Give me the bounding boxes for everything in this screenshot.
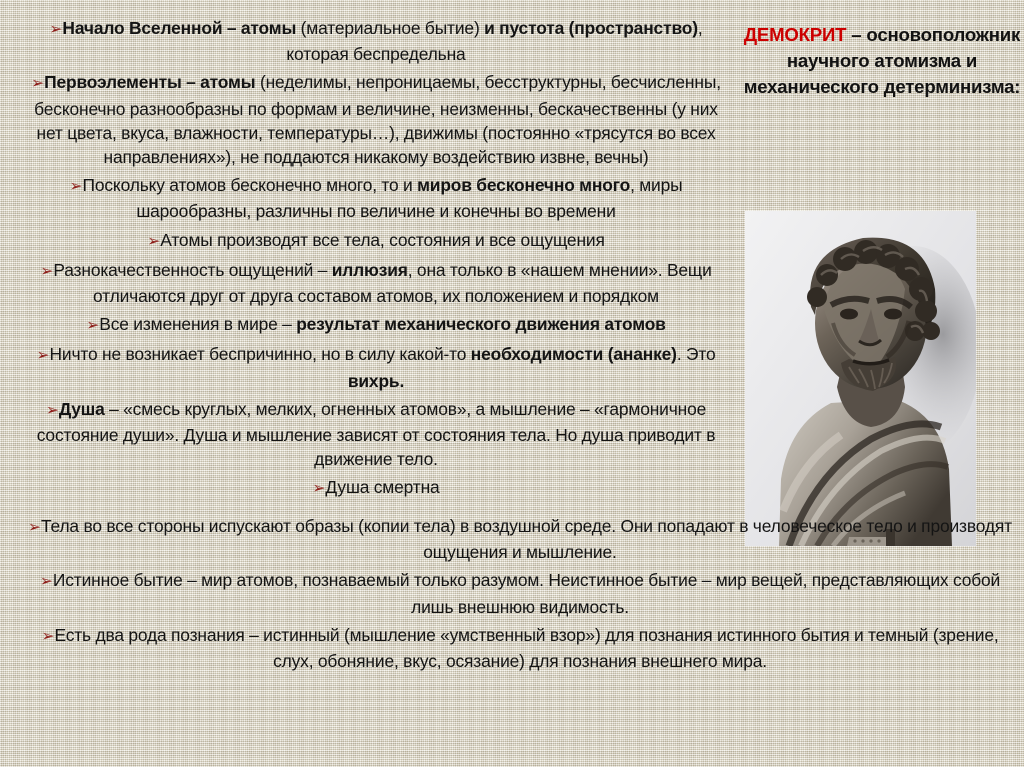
bullet-arrow-icon: ➢ bbox=[40, 263, 53, 280]
bullet-p1-run-2: и пустота (пространство) bbox=[484, 18, 698, 38]
bullet-arrow-icon: ➢ bbox=[41, 628, 54, 645]
bullet-arrow-icon: ➢ bbox=[40, 573, 53, 590]
side-title: ДЕМОКРИТ – основоположник научного атоми… bbox=[742, 22, 1022, 100]
narrow-bullet-column: ➢Начало Вселенной – атомы (материальное … bbox=[26, 16, 726, 506]
bullet-p4: ➢Атомы производят все тела, состояния и … bbox=[26, 228, 726, 254]
slide-canvas: ДЕМОКРИТ – основоположник научного атоми… bbox=[0, 0, 1024, 767]
bullet-arrow-icon: ➢ bbox=[86, 317, 99, 334]
bullet-arrow-icon: ➢ bbox=[147, 233, 160, 250]
wide-bullet-w2: ➢Истинное бытие – мир атомов, познаваемы… bbox=[26, 568, 1014, 618]
bullet-p3-run-0: Поскольку атомов бесконечно много, то и bbox=[83, 175, 418, 195]
bullet-p8: ➢Душа – «смесь круглых, мелких, огненных… bbox=[26, 397, 726, 472]
bullet-arrow-icon: ➢ bbox=[49, 21, 62, 38]
bullet-p5-run-1: иллюзия bbox=[332, 260, 408, 280]
bullet-p6-run-1: результат механического движения атомов bbox=[296, 314, 666, 334]
bullet-p1-run-0: Начало Вселенной – атомы bbox=[62, 18, 300, 38]
bullet-p7-run-1: необходимости (ананке) bbox=[471, 344, 677, 364]
bullet-p7-run-0: Ничто не возникает беспричинно, но в сил… bbox=[50, 344, 471, 364]
bullet-p7-run-3: вихрь. bbox=[348, 371, 404, 391]
bullet-arrow-icon: ➢ bbox=[46, 402, 59, 419]
bullet-p2: ➢Первоэлементы – атомы (неделимы, непрон… bbox=[26, 70, 726, 169]
bullet-p7: ➢Ничто не возникает беспричинно, но в си… bbox=[26, 342, 726, 392]
bullet-p5-run-0: Разнокачественность ощущений – bbox=[53, 260, 331, 280]
bullet-arrow-icon: ➢ bbox=[37, 347, 50, 364]
bullet-p7-run-2: . Это bbox=[677, 344, 716, 364]
bullet-p2-run-0: Первоэлементы – атомы bbox=[44, 72, 260, 92]
bullet-p4-run-0: Атомы производят все тела, состояния и в… bbox=[160, 230, 605, 250]
wide-bullet-w1: ➢Тела во все стороны испускают образы (к… bbox=[26, 514, 1014, 564]
wide-bullet-w3-run-0: Есть два рода познания – истинный (мышле… bbox=[54, 625, 998, 671]
bullet-arrow-icon: ➢ bbox=[70, 178, 83, 195]
wide-bullet-column: ➢Тела во все стороны испускают образы (к… bbox=[26, 514, 1014, 677]
bullet-p9-run-0: Душа смертна bbox=[325, 477, 439, 497]
bullet-p9: ➢Душа смертна bbox=[26, 475, 726, 501]
wide-bullet-w2-run-0: Истинное бытие – мир атомов, познаваемый… bbox=[53, 570, 1000, 616]
bullet-p6-run-0: Все изменения в мире – bbox=[99, 314, 296, 334]
bullet-p5: ➢Разнокачественность ощущений – иллюзия,… bbox=[26, 258, 726, 308]
bullet-arrow-icon: ➢ bbox=[28, 519, 41, 536]
wide-bullet-w1-run-0: Тела во все стороны испускают образы (ко… bbox=[41, 516, 1012, 562]
side-title-dash: – bbox=[846, 24, 866, 45]
bullet-p8-run-1: – «смесь круглых, мелких, огненных атомо… bbox=[37, 399, 716, 469]
bust-of-democritus-photo bbox=[745, 211, 976, 546]
bullet-arrow-icon: ➢ bbox=[31, 75, 44, 92]
bullet-arrow-icon: ➢ bbox=[312, 480, 325, 497]
bullet-p3: ➢Поскольку атомов бесконечно много, то и… bbox=[26, 173, 726, 223]
bullet-p8-run-0: Душа bbox=[59, 399, 105, 419]
wide-bullet-w3: ➢Есть два рода познания – истинный (мышл… bbox=[26, 623, 1014, 673]
bullet-p3-run-1: миров бесконечно много bbox=[417, 175, 630, 195]
bullet-p1-run-1: (материальное бытие) bbox=[301, 18, 484, 38]
bullet-p6: ➢Все изменения в мире – результат механи… bbox=[26, 312, 726, 338]
bullet-p1: ➢Начало Вселенной – атомы (материальное … bbox=[26, 16, 726, 66]
side-title-name: ДЕМОКРИТ bbox=[744, 24, 846, 45]
